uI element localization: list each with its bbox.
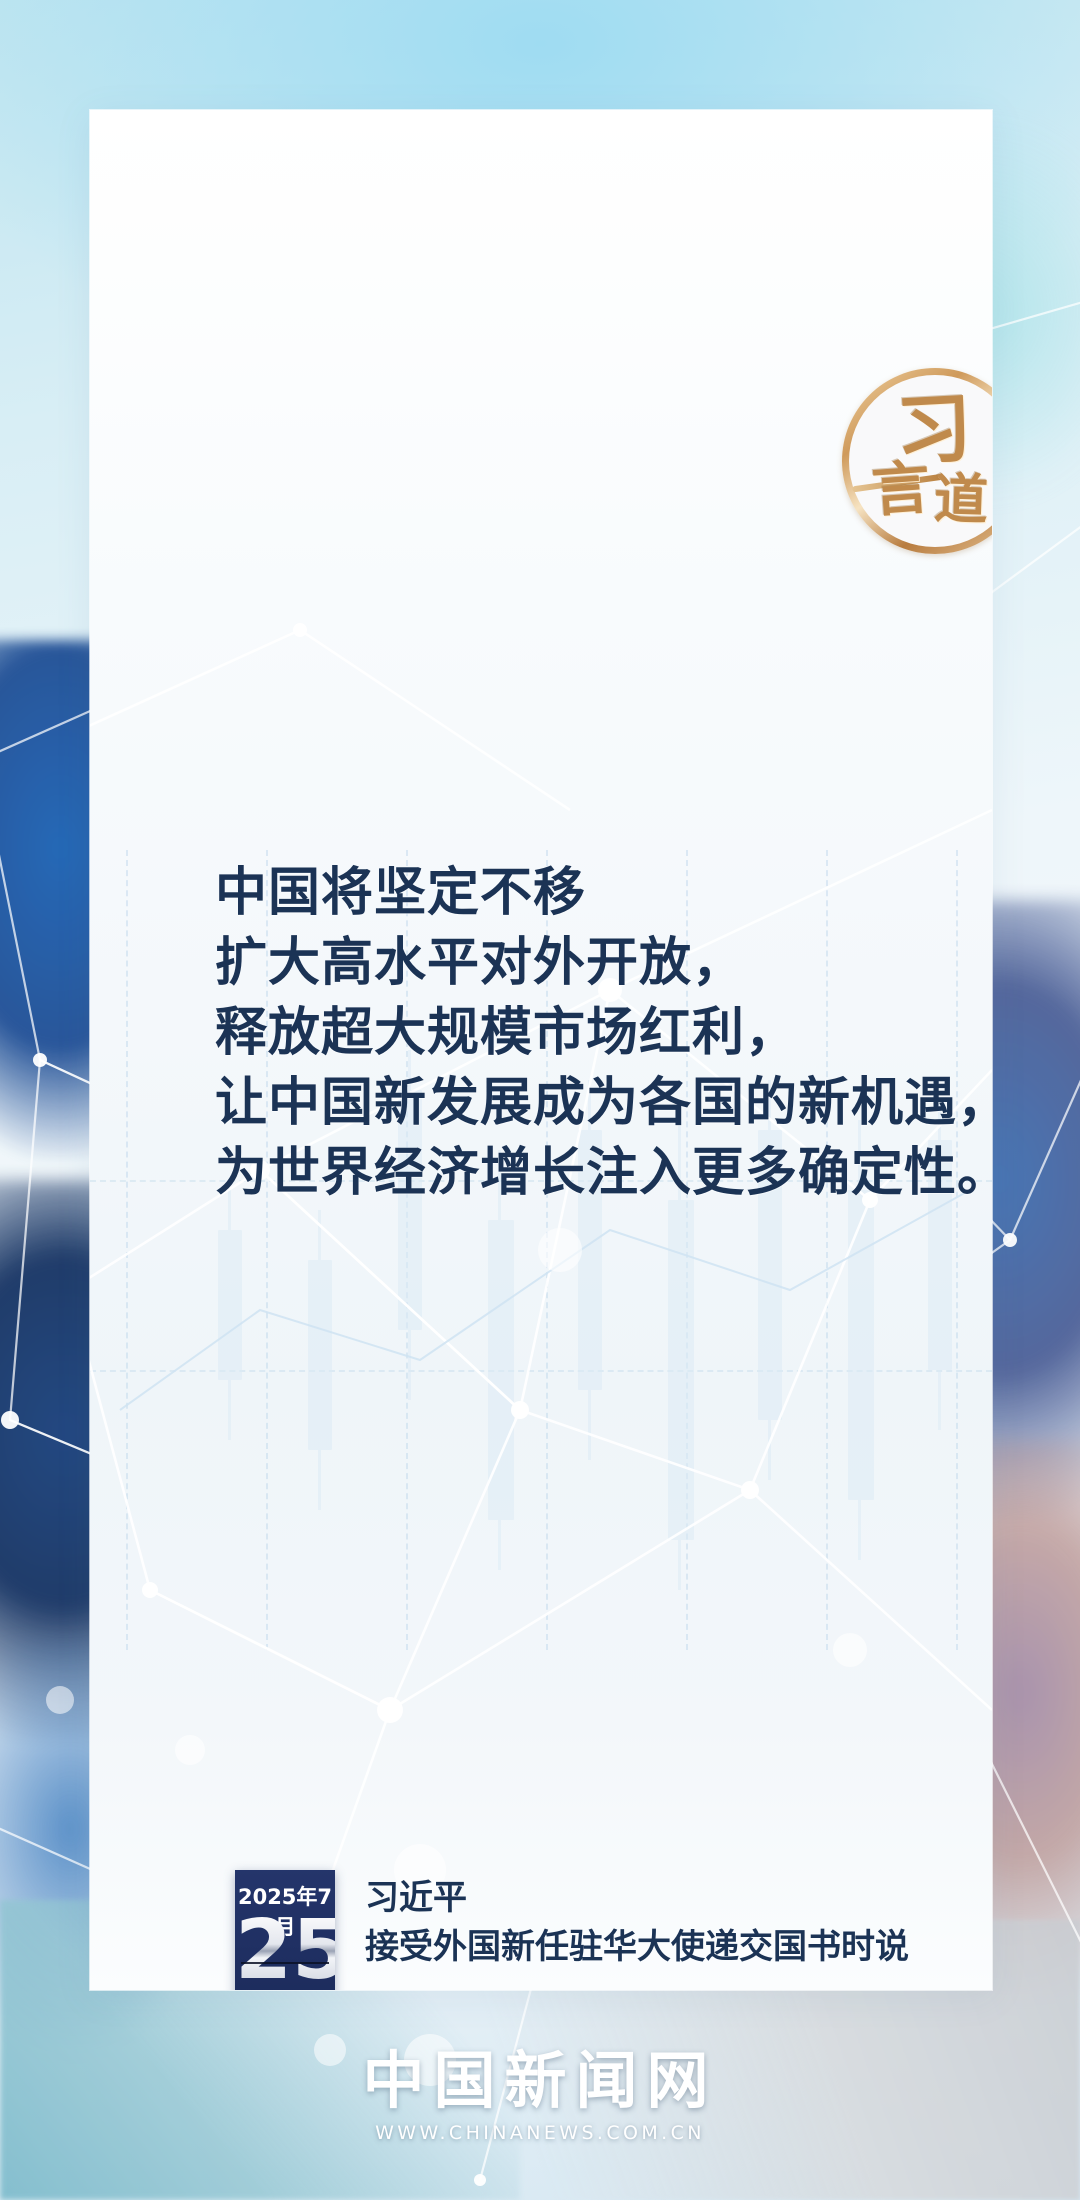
date-badge: 2025年7月 25 [235, 1870, 335, 1990]
date-day: 25 [235, 1908, 335, 1990]
seal-char-yan: 言 [870, 458, 932, 520]
content-card: 习 言 道 中国将坚定不移 扩大高水平对外开放， 释放超大规模市场红利， 让中国… [90, 110, 992, 1990]
speaker-name: 习近平 [365, 1874, 975, 1922]
quote-line-3: 释放超大规模市场红利， [215, 998, 955, 1068]
date-flip-divider [241, 1962, 329, 1964]
quote-footer: 2025年7月 25 习近平 接受外国新任驻华大使递交国书时说 [235, 1870, 975, 1990]
brand-name-cn: 中国新闻网 [0, 2046, 1080, 2116]
poster-root: 习 言 道 中国将坚定不移 扩大高水平对外开放， 释放超大规模市场红利， 让中国… [0, 0, 1080, 2200]
quote-line-4: 让中国新发展成为各国的新机遇， [215, 1068, 955, 1138]
site-branding: 中国新闻网 WWW.CHINANEWS.COM.CN [0, 2046, 1080, 2144]
attribution: 习近平 接受外国新任驻华大使递交国书时说 [365, 1874, 975, 1972]
seal-char-dao: 道 [933, 471, 989, 527]
xi-yan-dao-seal: 习 言 道 [842, 368, 992, 554]
quote-line-5: 为世界经济增长注入更多确定性。 [215, 1138, 955, 1208]
quote-text: 中国将坚定不移 扩大高水平对外开放， 释放超大规模市场红利， 让中国新发展成为各… [215, 858, 955, 1208]
quote-line-2: 扩大高水平对外开放， [215, 928, 955, 998]
quote-line-1: 中国将坚定不移 [215, 858, 955, 928]
brand-url: WWW.CHINANEWS.COM.CN [0, 2122, 1080, 2144]
speech-occasion: 接受外国新任驻华大使递交国书时说 [365, 1922, 975, 1972]
